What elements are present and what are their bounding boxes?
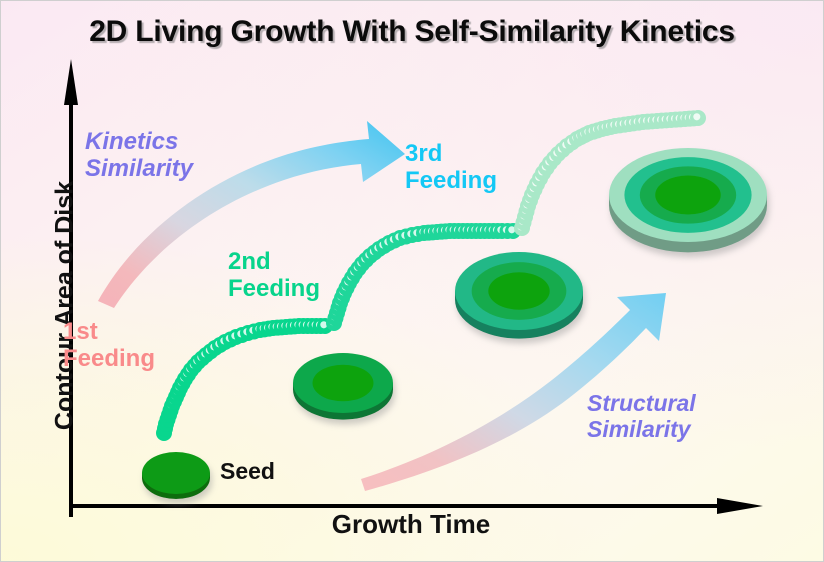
y-axis-label: Contour Area of Disk (51, 156, 80, 456)
structural-similarity-line1: Structural (587, 391, 696, 417)
feeding-1-line1: 1st (63, 319, 155, 346)
structural-similarity-line2: Similarity (587, 417, 696, 443)
annotation-structural-similarity: Structural Similarity (587, 391, 696, 443)
disk-after-1st-feeding (293, 353, 393, 420)
annotation-3rd-feeding: 3rd Feeding (405, 141, 497, 195)
figure-canvas: 2D Living Growth With Self-Similarity Ki… (0, 0, 824, 562)
annotation-seed-label: Seed (220, 459, 275, 485)
feeding-2-line1: 2nd (228, 249, 320, 276)
kinetics-similarity-line2: Similarity (85, 156, 193, 183)
axes (1, 1, 824, 562)
disk-after-3rd-feeding (609, 148, 767, 252)
annotation-kinetics-similarity: Kinetics Similarity (85, 129, 193, 183)
feeding-2-line2: Feeding (228, 276, 320, 303)
annotation-2nd-feeding: 2nd Feeding (228, 249, 320, 303)
feeding-3-line1: 3rd (405, 141, 497, 168)
feeding-1-line2: Feeding (63, 346, 155, 373)
kinetics-similarity-line1: Kinetics (85, 129, 193, 156)
annotation-1st-feeding: 1st Feeding (63, 319, 155, 373)
x-axis-label: Growth Time (251, 509, 571, 540)
seed-disk (142, 452, 210, 499)
feeding-3-line2: Feeding (405, 168, 497, 195)
disk-after-2nd-feeding (455, 252, 583, 339)
